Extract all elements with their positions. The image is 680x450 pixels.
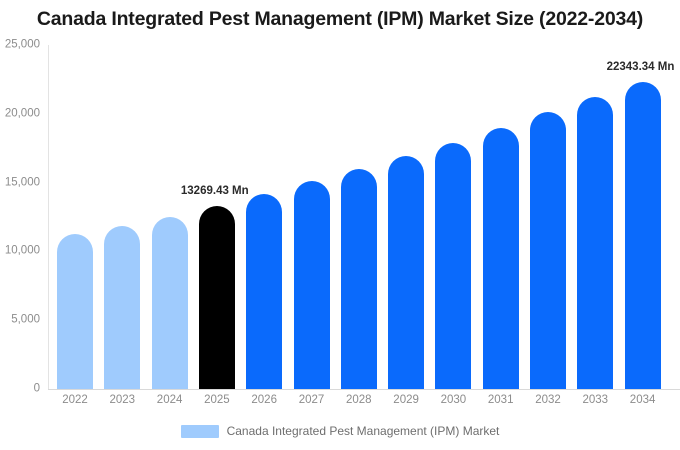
legend-swatch: [181, 425, 219, 438]
y-axis-tick-label: 15,000: [0, 177, 40, 189]
x-axis-tick-label: 2034: [613, 395, 673, 407]
y-axis-tick-label: 20,000: [0, 108, 40, 120]
y-axis-tick-label: 10,000: [0, 246, 40, 258]
y-axis-tick-label: 5,000: [0, 314, 40, 326]
bar[interactable]: [341, 169, 377, 389]
bar[interactable]: [530, 112, 566, 389]
bar[interactable]: [57, 234, 93, 389]
plot-area: 05,00010,00015,00020,00025,000 202220232…: [48, 45, 680, 389]
y-axis-line: [48, 45, 49, 389]
chart-container: Canada Integrated Pest Management (IPM) …: [0, 0, 680, 450]
data-label: 13269.43 Mn: [181, 186, 249, 198]
legend-label: Canada Integrated Pest Management (IPM) …: [227, 424, 500, 438]
y-axis-tick-label: 25,000: [0, 39, 40, 51]
bar[interactable]: [483, 128, 519, 389]
chart-title: Canada Integrated Pest Management (IPM) …: [0, 8, 680, 31]
bar[interactable]: [388, 156, 424, 389]
bar[interactable]: [294, 181, 330, 389]
data-label: 22343.34 Mn: [607, 62, 675, 74]
bar[interactable]: [246, 194, 282, 389]
bar[interactable]: [152, 217, 188, 389]
y-axis-tick-label: 0: [0, 383, 40, 395]
x-axis-line: [48, 389, 680, 390]
bar[interactable]: [104, 226, 140, 389]
bar[interactable]: [435, 143, 471, 389]
bar[interactable]: [199, 206, 235, 389]
chart-legend: Canada Integrated Pest Management (IPM) …: [0, 424, 680, 438]
bar[interactable]: [625, 82, 661, 389]
bar[interactable]: [577, 97, 613, 389]
